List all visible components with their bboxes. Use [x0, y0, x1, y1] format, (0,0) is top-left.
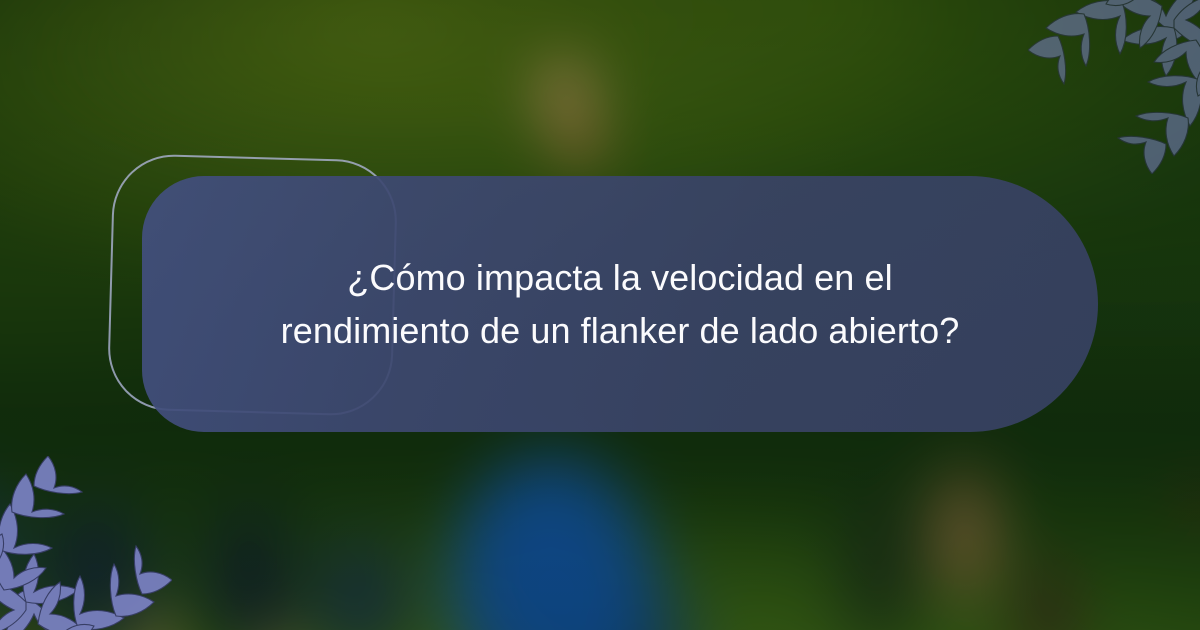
page-title: ¿Cómo impacta la velocidad en el rendimi…: [270, 251, 970, 357]
headline-card: ¿Cómo impacta la velocidad en el rendimi…: [142, 176, 1098, 432]
share-card-canvas: ¿Cómo impacta la velocidad en el rendimi…: [0, 0, 1200, 630]
headline-card-stack: ¿Cómo impacta la velocidad en el rendimi…: [0, 0, 1200, 630]
